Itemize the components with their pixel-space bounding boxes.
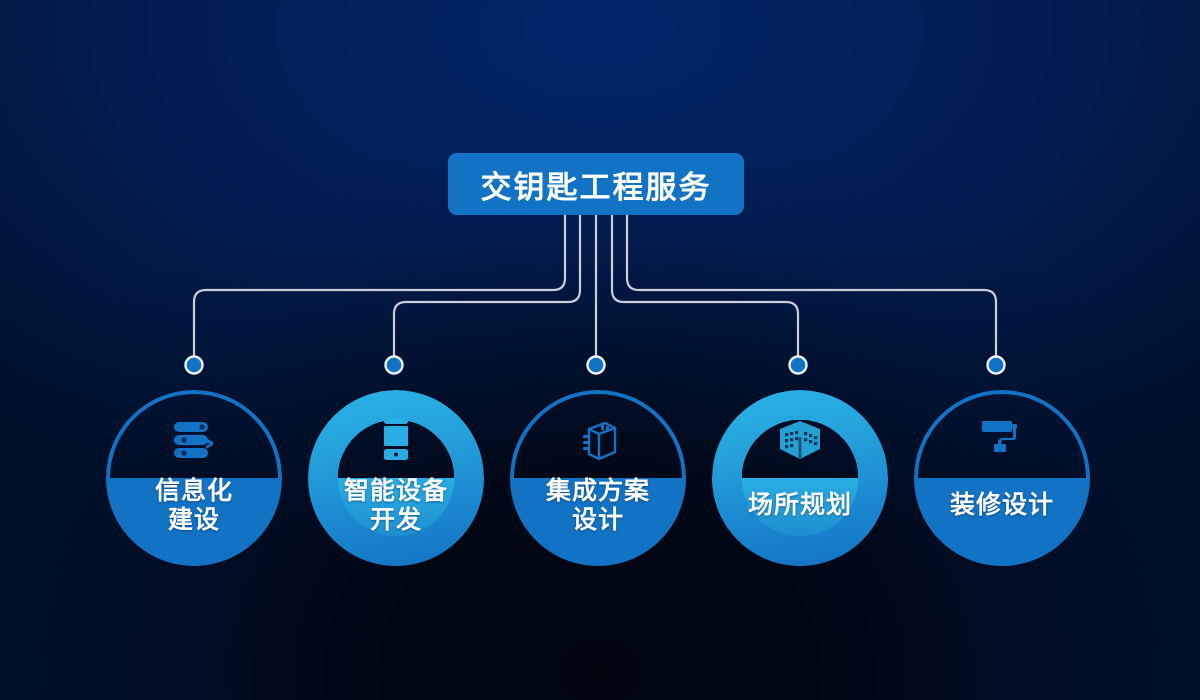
node-dot-1 bbox=[186, 357, 203, 374]
connector-endpoint-dots bbox=[186, 357, 1005, 374]
node-informatization[interactable]: 信息化 建设 bbox=[106, 390, 282, 566]
page-title: 交钥匙工程服务 bbox=[481, 162, 712, 207]
module-cube-icon bbox=[510, 410, 686, 472]
root-title-box[interactable]: 交钥匙工程服务 bbox=[448, 153, 744, 215]
node-dot-2 bbox=[386, 357, 403, 374]
node-label: 装修设计 bbox=[914, 490, 1090, 519]
diagram-canvas: 交钥匙工程服务 信息化 建设 bbox=[0, 0, 1200, 700]
node-label: 集成方案 设计 bbox=[510, 476, 686, 534]
node-label: 信息化 建设 bbox=[106, 476, 282, 534]
node-dot-5 bbox=[988, 357, 1005, 374]
paint-roller-icon bbox=[914, 410, 1090, 472]
connector-path-2 bbox=[394, 215, 580, 356]
connector-lines bbox=[0, 0, 1200, 700]
smartphone-icon bbox=[308, 410, 484, 472]
server-rack-icon bbox=[106, 410, 282, 472]
node-interior-design[interactable]: 装修设计 bbox=[914, 390, 1090, 566]
node-label: 智能设备 开发 bbox=[308, 476, 484, 534]
node-dot-4 bbox=[790, 357, 807, 374]
node-smart-device-dev[interactable]: 智能设备 开发 bbox=[308, 390, 484, 566]
node-label: 场所规划 bbox=[712, 490, 888, 519]
connector-path-1 bbox=[194, 215, 565, 356]
node-integration-design[interactable]: 集成方案 设计 bbox=[510, 390, 686, 566]
building-icon bbox=[712, 410, 888, 472]
connector-path-4 bbox=[612, 215, 798, 356]
connector-path-5 bbox=[627, 215, 996, 356]
node-dot-3 bbox=[588, 357, 605, 374]
node-site-planning[interactable]: 场所规划 bbox=[712, 390, 888, 566]
